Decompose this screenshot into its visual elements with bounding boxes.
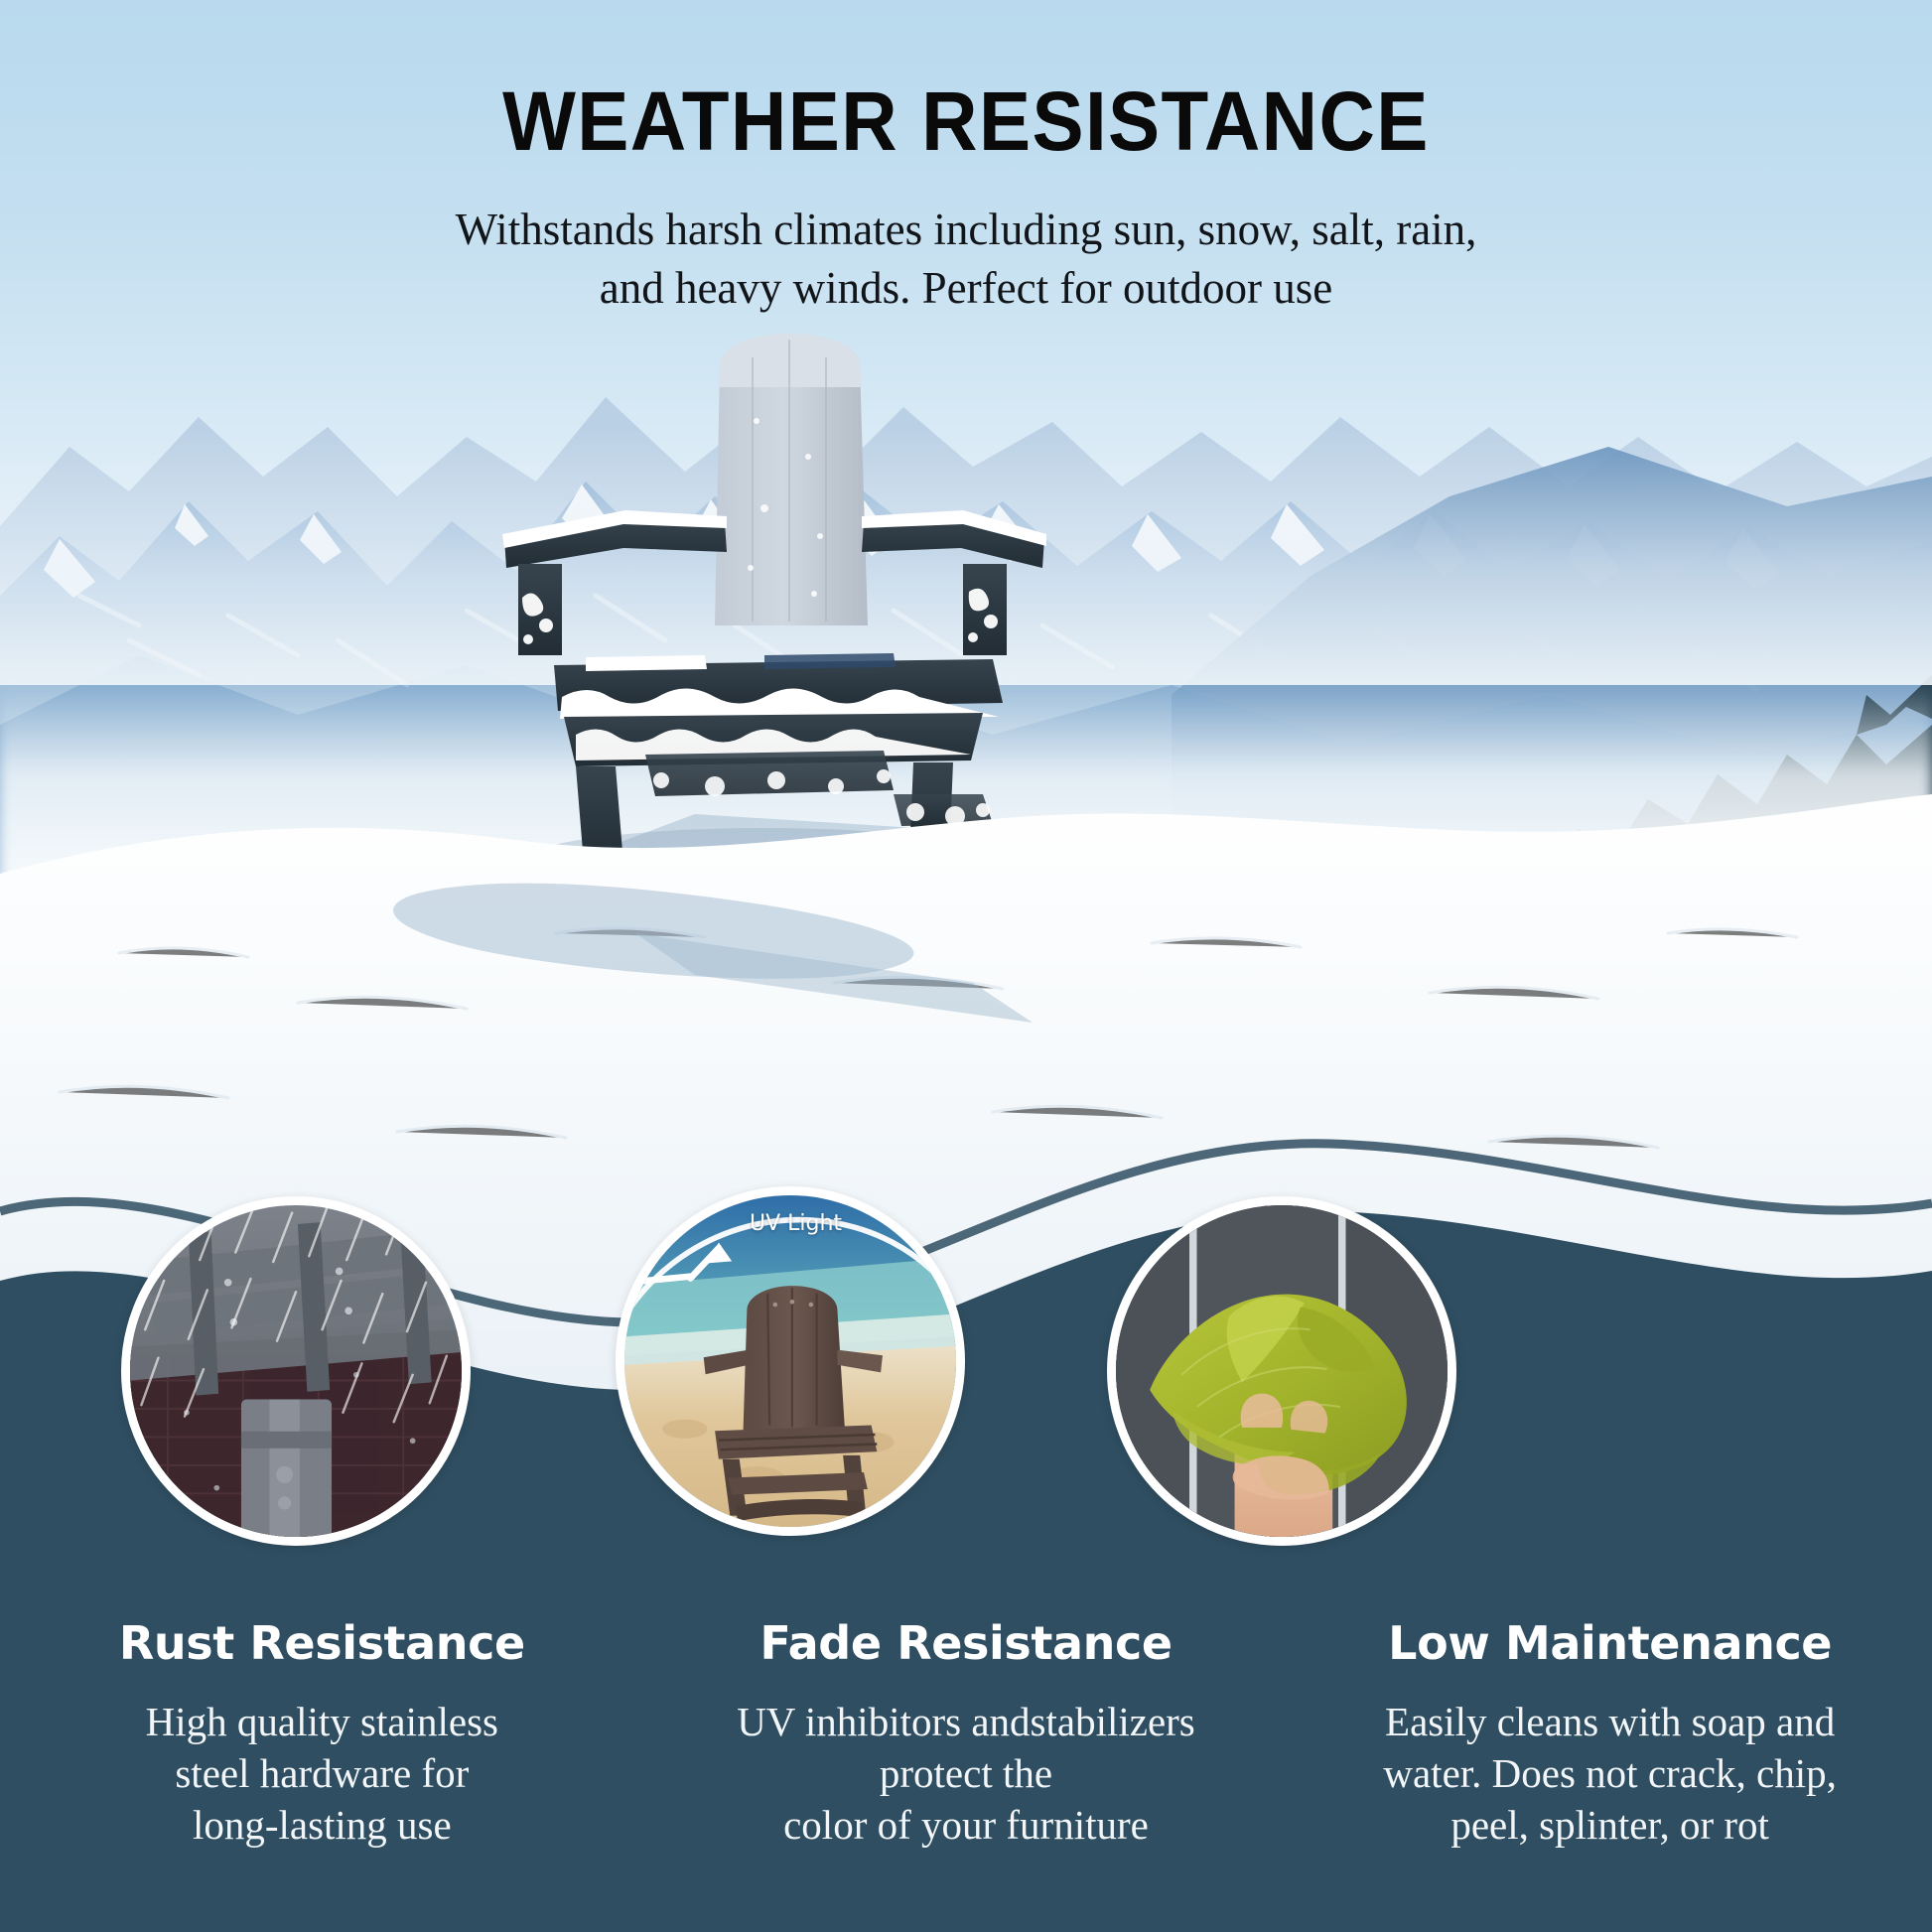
feature-desc-line-3: long-lasting use (193, 1802, 452, 1848)
feature-description: Easily cleans with soap and water. Does … (1321, 1696, 1898, 1851)
rain-on-furniture-photo (130, 1205, 462, 1537)
chair-on-beach-uv-photo (624, 1195, 956, 1527)
feature-desc-line-2: protect the (880, 1750, 1052, 1796)
feature-image-fade-resistance: UV Light (616, 1186, 965, 1536)
feature-low-maintenance: Low Maintenance Easily cleans with soap … (1288, 1616, 1932, 1851)
feature-title: Rust Resistance (34, 1616, 611, 1670)
header: WEATHER RESISTANCE Withstands harsh clim… (0, 0, 1932, 319)
feature-title: Fade Resistance (678, 1616, 1255, 1670)
feature-fade-resistance: Fade Resistance UV inhibitors andstabili… (644, 1616, 1289, 1851)
feature-description: High quality stainless steel hardware fo… (34, 1696, 611, 1851)
page-subtitle: Withstands harsh climates including sun,… (0, 201, 1932, 319)
stainless-bracket (241, 1399, 332, 1537)
feature-title: Low Maintenance (1321, 1616, 1898, 1670)
feature-desc-line-1: UV inhibitors andstabilizers (737, 1699, 1195, 1744)
feature-description: UV inhibitors andstabilizers protect the… (678, 1696, 1255, 1851)
feature-image-low-maintenance (1107, 1196, 1456, 1546)
feature-rust-resistance: Rust Resistance High quality stainless s… (0, 1616, 644, 1851)
subtitle-line-2: and heavy winds. Perfect for outdoor use (0, 259, 1932, 318)
feature-image-rust-resistance (121, 1196, 471, 1546)
weather-resistance-infographic: WEATHER RESISTANCE Withstands harsh clim… (0, 0, 1932, 1932)
feature-desc-line-1: Easily cleans with soap and (1385, 1699, 1835, 1744)
subtitle-line-1: Withstands harsh climates including sun,… (0, 201, 1932, 259)
feature-desc-line-2: water. Does not crack, chip, (1383, 1750, 1837, 1796)
page-title: WEATHER RESISTANCE (68, 79, 1864, 163)
features-row: Rust Resistance High quality stainless s… (0, 1616, 1932, 1851)
hand-wiping-cloth-photo (1116, 1205, 1448, 1537)
feature-desc-line-1: High quality stainless (146, 1699, 498, 1744)
feature-desc-line-3: peel, splinter, or rot (1450, 1802, 1769, 1848)
feature-desc-line-2: steel hardware for (175, 1750, 469, 1796)
uv-light-label: UV Light (750, 1211, 842, 1236)
feature-desc-line-3: color of your furniture (783, 1802, 1149, 1848)
